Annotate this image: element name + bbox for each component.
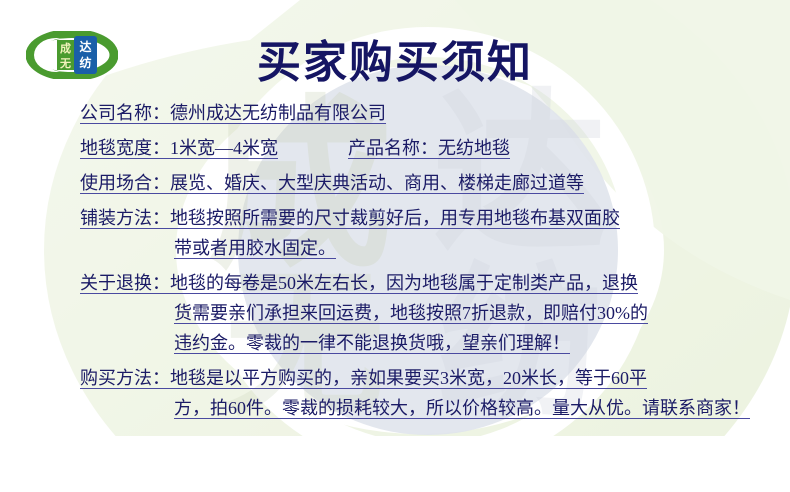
company-name-text: 公司名称：德州成达无纺制品有限公司 [80,103,386,123]
line-carpet-width: 地毯宽度：1米宽—4米宽产品名称：无纺地毯 [80,139,780,163]
buyer-purchase-notice-page: 成 达 无 纺 成 无 达 纺 [0,0,790,492]
returns-text-2: 货需要亲们承担来回运费，地毯按照7折退款，即赔付30%的 [174,303,648,323]
returns-text-3: 违约金。零裁的一律不能退换货哦，望亲们理解！ [174,333,570,353]
notice-body: 公司名称：德州成达无纺制品有限公司 地毯宽度：1米宽—4米宽产品名称：无纺地毯 … [80,104,780,434]
page-title: 买家购买须知 [0,26,790,90]
line-returns-1: 关于退换：地毯的每卷是50米左右长，因为地毯属于定制类产品，退换 [80,274,780,298]
installation-method-text-1: 铺装方法：地毯按照所需要的尺寸裁剪好后，用专用地毯布基双面胶 [80,208,620,228]
line-usage-scenarios: 使用场合：展览、婚庆、大型庆典活动、商用、楼梯走廊过道等 [80,174,780,198]
line-installation-method-1: 铺装方法：地毯按照所需要的尺寸裁剪好后，用专用地毯布基双面胶 [80,209,780,233]
line-company-name: 公司名称：德州成达无纺制品有限公司 [80,104,780,128]
product-name-text: 产品名称：无纺地毯 [348,138,510,158]
line-returns-3: 违约金。零裁的一律不能退换货哦，望亲们理解！ [80,334,780,358]
line-purchase-method-2: 方，拍60件。零裁的损耗较大，所以价格较高。量大从优。请联系商家！ [80,399,780,423]
line-purchase-method-1: 购买方法：地毯是以平方购买的，亲如果要买3米宽，20米长，等于60平 [80,369,780,393]
carpet-width-text: 地毯宽度：1米宽—4米宽 [80,138,278,158]
purchase-method-text-1: 购买方法：地毯是以平方购买的，亲如果要买3米宽，20米长，等于60平 [80,368,647,388]
returns-text-1: 关于退换：地毯的每卷是50米左右长，因为地毯属于定制类产品，退换 [80,273,638,293]
line-returns-2: 货需要亲们承担来回运费，地毯按照7折退款，即赔付30%的 [80,304,780,328]
usage-scenarios-text: 使用场合：展览、婚庆、大型庆典活动、商用、楼梯走廊过道等 [80,173,584,193]
purchase-method-text-2: 方，拍60件。零裁的损耗较大，所以价格较高。量大从优。请联系商家！ [174,398,750,418]
line-installation-method-2: 带或者用胶水固定。 [80,239,780,263]
installation-method-text-2: 带或者用胶水固定。 [174,238,336,258]
